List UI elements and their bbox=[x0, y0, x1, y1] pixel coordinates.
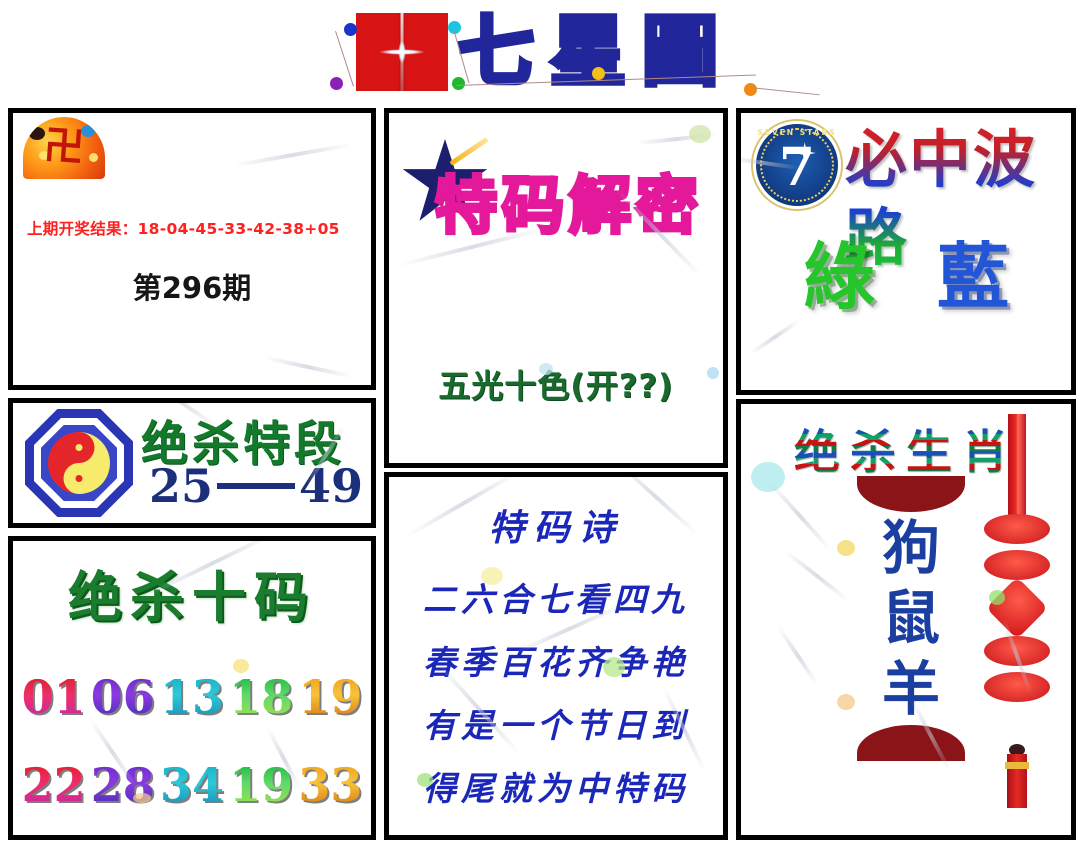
previous-result-text: 上期开奖结果：18-04-45-33-42-38+05 bbox=[27, 217, 340, 239]
kill-range-value: 25 49 bbox=[149, 459, 363, 513]
zodiac-item: 狗 bbox=[851, 514, 971, 582]
header-inner: 七 星 圖 bbox=[356, 13, 724, 91]
scan-streak bbox=[768, 481, 831, 551]
number-row: 22 28 34 19 33 bbox=[19, 741, 365, 829]
kill-number: 19 bbox=[298, 674, 362, 720]
decor-dot-orange bbox=[744, 83, 757, 96]
bagua-yinyang-icon bbox=[25, 409, 133, 517]
page-header: 七 星 圖 bbox=[0, 0, 1080, 104]
seven-star-flag-logo bbox=[356, 13, 448, 91]
code-decrypt-title: 特码解密 bbox=[435, 155, 703, 245]
scan-streak bbox=[784, 550, 850, 602]
seven-stars-logo-number: 7 bbox=[779, 142, 815, 194]
scan-streak bbox=[264, 356, 353, 379]
scan-speck bbox=[689, 125, 711, 143]
zodiac-cap-bottom bbox=[857, 725, 965, 761]
zodiac-item: 鼠 bbox=[851, 584, 971, 652]
panel-kill-range: 绝杀特段 25 49 bbox=[8, 398, 376, 528]
decor-dot-yellow bbox=[592, 67, 605, 80]
decor-dot-purple bbox=[330, 77, 343, 90]
kill-number: 19 bbox=[229, 762, 293, 808]
zodiac-cap-top bbox=[857, 476, 965, 512]
poem-line: 有是一个节日到 bbox=[389, 699, 723, 747]
kill-number: 34 bbox=[160, 762, 224, 808]
kill-ten-numbers: 01 06 13 18 19 22 28 34 19 33 bbox=[19, 653, 365, 829]
scan-streak bbox=[637, 133, 717, 145]
kill-number: 33 bbox=[298, 762, 362, 808]
scan-streak bbox=[234, 143, 353, 168]
code-poem: 特码诗 二六合七看四九 春季百花齐争艳 有是一个节日到 得尾就为中特码 bbox=[389, 499, 723, 825]
poem-heading: 特码诗 bbox=[389, 499, 723, 551]
period-number: 第296期 bbox=[13, 265, 371, 307]
scan-streak bbox=[777, 626, 819, 686]
poem-line: 得尾就为中特码 bbox=[389, 762, 723, 810]
kill-number: 13 bbox=[160, 674, 224, 720]
content-grid: 上期开奖结果：18-04-45-33-42-38+05 第296期 绝杀特段 2… bbox=[0, 104, 1080, 844]
panel-kill-zodiac: 绝杀生肖 狗 鼠 羊 bbox=[736, 399, 1076, 840]
number-row: 01 06 13 18 19 bbox=[19, 653, 365, 741]
panel-previous-result: 上期开奖结果：18-04-45-33-42-38+05 第296期 bbox=[8, 108, 376, 390]
code-decrypt-subtitle: 五光十色(开??) bbox=[389, 361, 723, 407]
kill-number: 28 bbox=[91, 762, 155, 808]
decor-wire-tail bbox=[750, 87, 820, 95]
page-root: 七 星 圖 上期开奖结果：1 bbox=[0, 0, 1080, 844]
panel-wave-road: SEVEN STARS 7 必中波路 綠 藍 bbox=[736, 108, 1076, 395]
poem-line: 二六合七看四九 bbox=[389, 573, 723, 621]
seven-stars-logo-icon: SEVEN STARS 7 bbox=[753, 121, 841, 209]
kill-number: 06 bbox=[91, 674, 155, 720]
decor-dot-blue bbox=[344, 23, 357, 36]
poem-line: 春季百花齐争艳 bbox=[389, 636, 723, 684]
decor-dot-green bbox=[452, 77, 465, 90]
seven-stars-logo-text: SEVEN STARS bbox=[756, 128, 838, 137]
wave-colors: 綠 藍 bbox=[741, 241, 1071, 313]
kill-number: 22 bbox=[22, 762, 86, 808]
panel-code-poem: 特码诗 二六合七看四九 春季百花齐争艳 有是一个节日到 得尾就为中特码 bbox=[384, 472, 728, 840]
kill-number: 18 bbox=[229, 674, 293, 720]
wave-color-blue: 藍 bbox=[937, 241, 1009, 313]
zodiac-list: 狗 鼠 羊 bbox=[851, 476, 971, 761]
kill-ten-title: 绝杀十码 bbox=[13, 553, 371, 632]
kill-number: 01 bbox=[22, 674, 86, 720]
kill-range-from: 25 bbox=[149, 459, 213, 513]
fu-luck-icon bbox=[23, 117, 105, 179]
scan-streak bbox=[749, 319, 801, 356]
kill-range-to: 49 bbox=[299, 459, 363, 513]
chinese-knot-icon bbox=[987, 414, 1047, 814]
panel-kill-ten-codes: 绝杀十码 01 06 13 18 19 22 28 34 19 33 bbox=[8, 536, 376, 840]
zodiac-item: 羊 bbox=[851, 655, 971, 723]
wave-color-green: 綠 bbox=[803, 241, 875, 313]
panel-code-decrypt: 特码解密 五光十色(开??) bbox=[384, 108, 728, 468]
range-dash-icon bbox=[217, 483, 295, 489]
